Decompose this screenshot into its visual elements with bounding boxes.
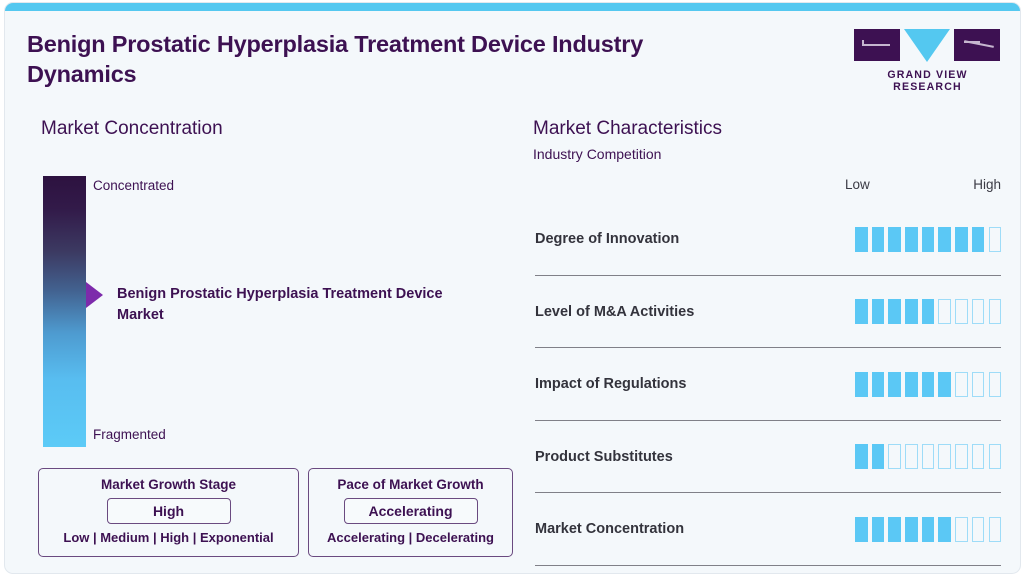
rating-tick-empty	[888, 444, 901, 469]
rating-tick-filled	[905, 517, 918, 542]
characteristic-label: Product Substitutes	[535, 449, 673, 465]
row-divider	[535, 565, 1001, 566]
characteristic-row: Market Concentration	[535, 493, 1001, 566]
rating-tick-empty	[989, 517, 1002, 542]
rating-tick-filled	[888, 372, 901, 397]
characteristic-rating-bars	[855, 299, 1001, 324]
rating-tick-empty	[955, 444, 968, 469]
rating-tick-filled	[922, 517, 935, 542]
characteristic-rating-bars	[855, 372, 1001, 397]
market-growth-stage-options: Low | Medium | High | Exponential	[63, 530, 273, 545]
pace-of-market-growth-title: Pace of Market Growth	[337, 477, 483, 492]
rating-tick-filled	[855, 227, 868, 252]
rating-tick-filled	[955, 227, 968, 252]
rating-tick-filled	[872, 444, 885, 469]
scale-low-label: Low	[845, 177, 870, 192]
market-position-label: Benign Prostatic Hyperplasia Treatment D…	[117, 284, 457, 326]
gradient-top-label: Concentrated	[93, 178, 174, 193]
concentration-gradient-bar	[43, 176, 86, 447]
rating-tick-filled	[922, 227, 935, 252]
rating-tick-empty	[972, 299, 985, 324]
market-characteristics-heading: Market Characteristics	[533, 118, 722, 140]
market-growth-stage-value: High	[107, 498, 231, 524]
rating-tick-filled	[922, 372, 935, 397]
rating-tick-empty	[972, 517, 985, 542]
rating-tick-filled	[872, 517, 885, 542]
rating-tick-filled	[888, 299, 901, 324]
rating-tick-empty	[938, 299, 951, 324]
rating-tick-empty	[972, 444, 985, 469]
rating-tick-empty	[955, 299, 968, 324]
rating-tick-filled	[855, 299, 868, 324]
page-title: Benign Prostatic Hyperplasia Treatment D…	[27, 29, 747, 89]
rating-tick-empty	[989, 444, 1002, 469]
market-growth-stage-box: Market Growth Stage High Low | Medium | …	[38, 468, 299, 557]
characteristics-rows: Degree of InnovationLevel of M&A Activit…	[535, 203, 1001, 566]
pace-of-market-growth-options: Accelerating | Decelerating	[327, 530, 494, 545]
rating-tick-filled	[872, 372, 885, 397]
gradient-bottom-label: Fragmented	[93, 427, 166, 442]
logo-rect-right-icon	[954, 29, 1000, 61]
characteristic-label: Degree of Innovation	[535, 231, 679, 247]
rating-tick-filled	[905, 372, 918, 397]
rating-tick-empty	[989, 299, 1002, 324]
pace-of-market-growth-box: Pace of Market Growth Accelerating Accel…	[308, 468, 513, 557]
logo-rect-left-icon	[854, 29, 900, 61]
characteristic-row: Level of M&A Activities	[535, 276, 1001, 349]
characteristic-row: Impact of Regulations	[535, 348, 1001, 421]
market-characteristics-subheading: Industry Competition	[533, 146, 661, 162]
rating-tick-filled	[872, 227, 885, 252]
rating-tick-empty	[989, 372, 1002, 397]
characteristic-row: Degree of Innovation	[535, 203, 1001, 276]
rating-tick-filled	[855, 372, 868, 397]
rating-tick-filled	[922, 299, 935, 324]
logo-wordmark: GRAND VIEW RESEARCH	[854, 69, 1001, 93]
characteristic-rating-bars	[855, 444, 1001, 469]
characteristic-label: Market Concentration	[535, 521, 684, 537]
scale-high-label: High	[973, 177, 1001, 192]
rating-tick-filled	[855, 444, 868, 469]
characteristic-label: Impact of Regulations	[535, 376, 686, 392]
characteristic-row: Product Substitutes	[535, 421, 1001, 494]
top-accent-bar	[5, 3, 1020, 11]
rating-tick-empty	[955, 372, 968, 397]
rating-tick-empty	[905, 444, 918, 469]
infographic-card: Benign Prostatic Hyperplasia Treatment D…	[4, 2, 1021, 574]
rating-tick-filled	[905, 299, 918, 324]
scale-header: Low High	[845, 177, 1001, 192]
rating-tick-empty	[922, 444, 935, 469]
rating-tick-empty	[972, 372, 985, 397]
rating-tick-empty	[989, 227, 1002, 252]
characteristic-label: Level of M&A Activities	[535, 304, 694, 320]
logo-triangle-icon	[904, 29, 950, 62]
rating-tick-filled	[855, 517, 868, 542]
characteristic-rating-bars	[855, 227, 1001, 252]
rating-tick-filled	[938, 372, 951, 397]
pace-of-market-growth-value: Accelerating	[344, 498, 478, 524]
brand-logo: GRAND VIEW RESEARCH	[854, 29, 1001, 93]
rating-tick-filled	[888, 517, 901, 542]
rating-tick-filled	[938, 227, 951, 252]
rating-tick-filled	[938, 517, 951, 542]
rating-tick-filled	[972, 227, 985, 252]
market-concentration-heading: Market Concentration	[41, 118, 223, 140]
rating-tick-filled	[872, 299, 885, 324]
market-growth-stage-title: Market Growth Stage	[101, 477, 236, 492]
rating-tick-empty	[938, 444, 951, 469]
market-position-arrow-icon	[86, 282, 103, 308]
rating-tick-filled	[888, 227, 901, 252]
logo-marks	[854, 29, 1001, 63]
rating-tick-filled	[905, 227, 918, 252]
rating-tick-empty	[955, 517, 968, 542]
characteristic-rating-bars	[855, 517, 1001, 542]
